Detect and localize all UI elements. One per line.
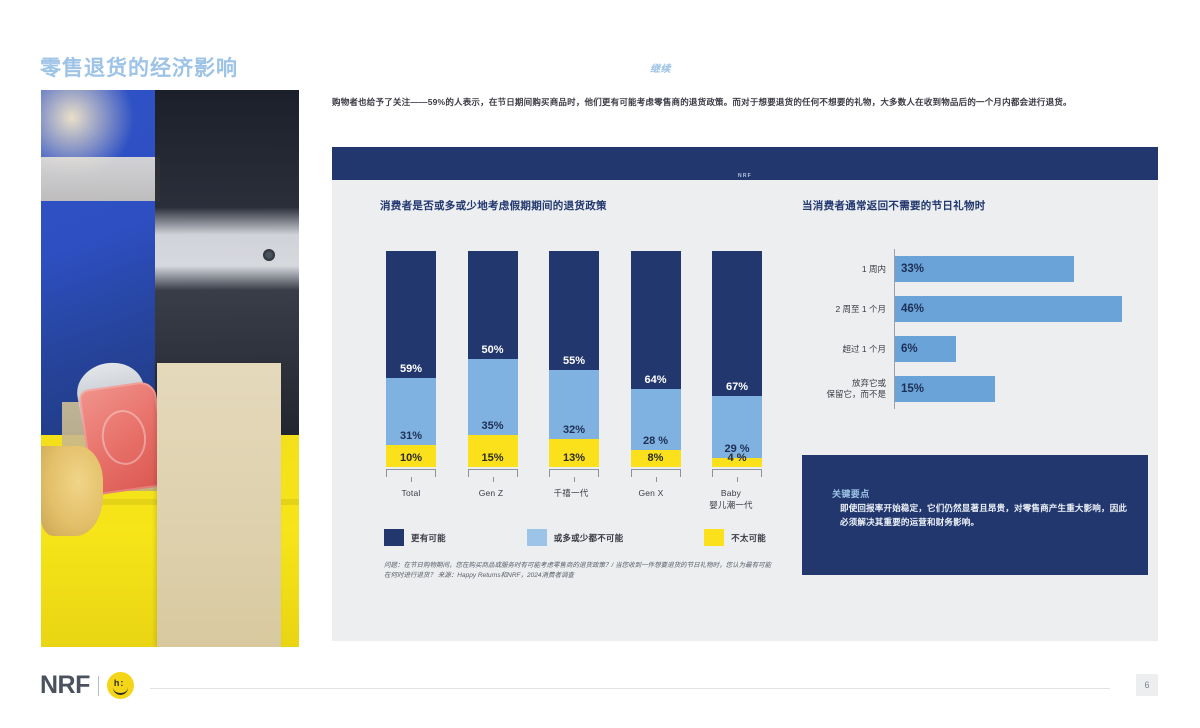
callout-body: 即使回报率开始稳定，它们仍然显著且昂贵，对零售商产生重大影响，因此必须解决其重要… bbox=[840, 501, 1132, 529]
photo-cardboard-box bbox=[157, 363, 281, 647]
bar-segment-less-likely: 8% bbox=[631, 450, 681, 467]
bar-row-label-line1: 2 周至 1 个月 bbox=[802, 304, 886, 315]
warehouse-photo bbox=[41, 90, 299, 647]
bar-row-label-line2: 保留它，而不是 bbox=[802, 389, 886, 400]
bar-segment-neutral: 35% bbox=[468, 359, 518, 435]
bar-row-2-weeks-to-1-month: 2 周至 1 个月 46% bbox=[802, 289, 1122, 329]
bar-segment-less-likely: 15% bbox=[468, 435, 518, 467]
bar-row-within-1-week: 1 周内 33% bbox=[802, 249, 1122, 289]
legend-swatch-icon bbox=[704, 529, 724, 546]
axis-tick bbox=[468, 469, 518, 477]
bar-row-label: 超过 1 个月 bbox=[802, 344, 894, 355]
bar-column-boomers: 67% 29 % 4 % bbox=[712, 251, 762, 467]
chart-source-note: 问题：在节日购物期间，您在购买商品或服务时有可能考虑零售商的退货政策？/ 当您收… bbox=[384, 561, 776, 580]
legend-swatch-icon bbox=[384, 529, 404, 546]
happy-returns-smiley-icon: h: bbox=[107, 672, 134, 699]
category-label-line2: 婴儿潮一代 bbox=[700, 499, 762, 511]
stacked-bars: 59% 31% 10% 50% 35% 15% 55% 32% 13% 64% … bbox=[386, 251, 762, 467]
bar-segment-less-likely: 10% bbox=[386, 445, 436, 467]
category-label-line1: Total bbox=[380, 487, 442, 499]
legend-item-less-likely: 不太可能 bbox=[704, 529, 766, 546]
bar-segment-more-likely: 67% bbox=[712, 251, 762, 396]
category-label-line1: Baby bbox=[700, 487, 762, 499]
bar-segment-neutral: 31% bbox=[386, 378, 436, 445]
bar-row-discard-or-keep: 放弃它或 保留它，而不是 15% bbox=[802, 369, 1122, 409]
intro-paragraph: 购物者也给予了关注——59%的人表示，在节日期间购买商品时，他们更有可能考虑零售… bbox=[332, 95, 1132, 109]
bar-track: 33% bbox=[895, 249, 1122, 289]
bar-value: 6% bbox=[895, 336, 956, 362]
axis-ticks bbox=[386, 469, 762, 479]
axis-tick bbox=[386, 469, 436, 477]
axis-tick bbox=[549, 469, 599, 477]
category-label: Baby 婴儿潮一代 bbox=[700, 487, 762, 511]
bar-segment-more-likely: 59% bbox=[386, 251, 436, 378]
callout-heading: 关键要点 bbox=[832, 487, 870, 500]
bar-value: 46% bbox=[895, 296, 1122, 322]
bar-row-label: 1 周内 bbox=[802, 264, 894, 275]
bar-segment-more-likely: 64% bbox=[631, 251, 681, 389]
bar-column-genz: 50% 35% 15% bbox=[468, 251, 518, 467]
category-labels: Total Gen Z 千禧一代 Gen X Baby 婴儿潮一代 bbox=[386, 487, 762, 511]
bar-track: 6% bbox=[895, 329, 1122, 369]
bar-track: 15% bbox=[895, 369, 1122, 409]
bar-row-label-line1: 放弃它或 bbox=[802, 378, 886, 389]
chart-panel: NRF 消费者是否或多或少地考虑假期期间的退货政策 59% 31% 10% 50… bbox=[332, 147, 1158, 641]
legend-label: 或多或少都不可能 bbox=[554, 532, 624, 544]
photo-gloved-hand bbox=[41, 446, 103, 535]
bar-segment-more-likely: 55% bbox=[549, 251, 599, 370]
footer-logo: NRF h: bbox=[40, 671, 134, 700]
bar-segment-neutral: 32% bbox=[549, 370, 599, 439]
axis-tick bbox=[712, 469, 762, 477]
panel-header-bar: NRF bbox=[332, 147, 1158, 180]
photo-shelf bbox=[41, 157, 160, 202]
slide: 零售退货的经济影响 继续 购物者也给予了关注——59%的人表示，在节日期间购买商… bbox=[0, 0, 1200, 728]
logo-divider bbox=[98, 676, 99, 696]
axis-tick bbox=[631, 469, 681, 477]
bar-segment-neutral: 28 % bbox=[631, 389, 681, 449]
bar-column-genx: 64% 28 % 8% bbox=[631, 251, 681, 467]
legend-item-more-likely: 更有可能 bbox=[384, 529, 446, 546]
horizontal-bars: 1 周内 33% 2 周至 1 个月 46% bbox=[802, 249, 1122, 409]
bar-segment-more-likely: 50% bbox=[468, 251, 518, 359]
stacked-chart-title: 消费者是否或多或少地考虑假期期间的退货政策 bbox=[380, 199, 770, 214]
category-label-line1: Gen X bbox=[620, 487, 682, 499]
bar-row-label: 放弃它或 保留它，而不是 bbox=[802, 378, 894, 400]
bar-row-over-1-month: 超过 1 个月 6% bbox=[802, 329, 1122, 369]
footer-divider bbox=[150, 688, 1110, 689]
bar-row-label: 2 周至 1 个月 bbox=[802, 304, 894, 315]
bar-segment-less-likely: 13% bbox=[549, 439, 599, 467]
bar-segment-less-likely: 4 % bbox=[712, 458, 762, 467]
category-label: Gen X bbox=[620, 487, 682, 511]
legend-label: 更有可能 bbox=[411, 532, 446, 544]
category-label: Total bbox=[380, 487, 442, 511]
continued-label: 继续 bbox=[650, 60, 671, 75]
legend-label: 不太可能 bbox=[731, 532, 766, 544]
horizontal-chart-title: 当消费者通常返回不需要的节日礼物时 bbox=[802, 199, 1122, 214]
nrf-logo: NRF bbox=[40, 671, 90, 700]
chart-legend: 更有可能 或多或少都不可能 不太可能 bbox=[384, 529, 766, 546]
stacked-bar-chart: 消费者是否或多或少地考虑假期期间的退货政策 59% 31% 10% 50% 35… bbox=[380, 199, 770, 629]
bar-row-label-line1: 超过 1 个月 bbox=[802, 344, 886, 355]
panel-header-tag: NRF bbox=[738, 173, 752, 179]
bar-track: 46% bbox=[895, 289, 1122, 329]
page-title: 零售退货的经济影响 bbox=[40, 52, 238, 82]
horizontal-bar-chart: 当消费者通常返回不需要的节日礼物时 1 周内 33% 2 周至 1 个月 bbox=[802, 199, 1122, 399]
legend-item-neutral: 或多或少都不可能 bbox=[527, 529, 624, 546]
category-label-line1: 千禧一代 bbox=[540, 487, 602, 499]
page-number: 6 bbox=[1136, 674, 1158, 696]
photo-vest-button bbox=[263, 249, 275, 261]
bar-row-label-line1: 1 周内 bbox=[802, 264, 886, 275]
legend-swatch-icon bbox=[527, 529, 547, 546]
bar-column-millennials: 55% 32% 13% bbox=[549, 251, 599, 467]
bar-value: 33% bbox=[895, 256, 1074, 282]
bar-value: 15% bbox=[895, 376, 995, 402]
category-label-line1: Gen Z bbox=[460, 487, 522, 499]
key-takeaway-callout: 关键要点 即使回报率开始稳定，它们仍然显著且昂贵，对零售商产生重大影响，因此必须… bbox=[802, 455, 1148, 575]
bar-segment-neutral: 29 % bbox=[712, 396, 762, 459]
smiley-mouth bbox=[113, 685, 128, 695]
category-label: 千禧一代 bbox=[540, 487, 602, 511]
category-label: Gen Z bbox=[460, 487, 522, 511]
bar-column-total: 59% 31% 10% bbox=[386, 251, 436, 467]
